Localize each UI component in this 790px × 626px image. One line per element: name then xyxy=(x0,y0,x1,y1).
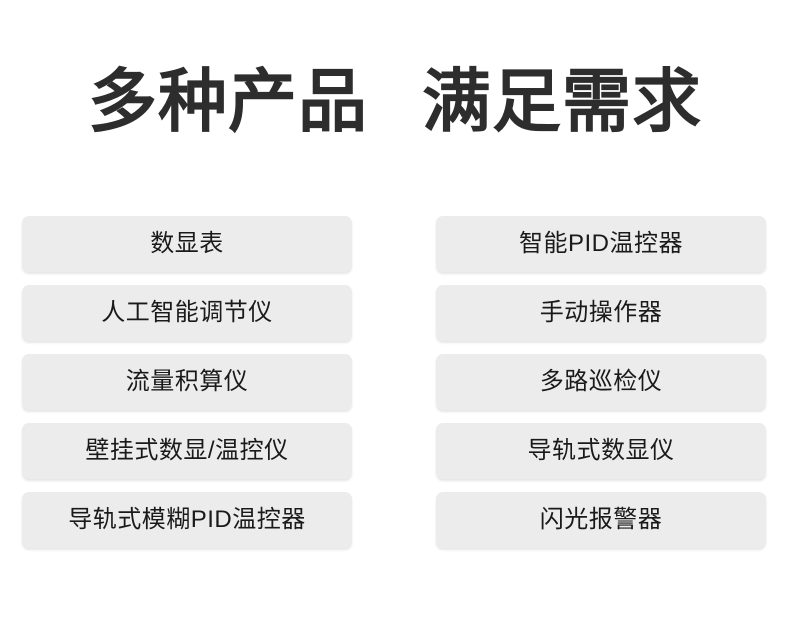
product-item-label: 手动操作器 xyxy=(540,300,663,326)
product-item-label: 壁挂式数显/温控仪 xyxy=(85,438,288,464)
product-item-label: 导轨式数显仪 xyxy=(528,438,675,464)
page-title-part-2: 满足需求 xyxy=(422,56,702,148)
product-item-daoguishi-shuxianyi[interactable]: 导轨式数显仪 xyxy=(436,423,766,479)
product-item-shanguang-baojingqi[interactable]: 闪光报警器 xyxy=(436,492,766,548)
product-item-label: 闪光报警器 xyxy=(540,507,663,533)
product-item-duolu-xunjianyi[interactable]: 多路巡检仪 xyxy=(436,354,766,410)
product-grid: 数显表 人工智能调节仪 流量积算仪 壁挂式数显/温控仪 导轨式模糊PID温控器 … xyxy=(22,216,766,548)
product-catalog-banner: 多种产品满足需求 数显表 人工智能调节仪 流量积算仪 壁挂式数显/温控仪 导轨式… xyxy=(0,0,790,626)
page-title-part-1: 多种产品 xyxy=(88,56,368,148)
product-item-liuliang-jisuanyi[interactable]: 流量积算仪 xyxy=(22,354,352,410)
page-title: 多种产品满足需求 xyxy=(0,56,790,148)
product-item-label: 导轨式模糊PID温控器 xyxy=(68,507,306,533)
product-item-label: 数显表 xyxy=(150,231,224,257)
product-item-shoudong-caozuoqi[interactable]: 手动操作器 xyxy=(436,285,766,341)
product-column-right: 智能PID温控器 手动操作器 多路巡检仪 导轨式数显仪 闪光报警器 xyxy=(436,216,766,548)
product-item-label: 人工智能调节仪 xyxy=(101,300,273,326)
product-item-daoguishi-mohu-pid-wenkongqi[interactable]: 导轨式模糊PID温控器 xyxy=(22,492,352,548)
product-item-shuxianbiao[interactable]: 数显表 xyxy=(22,216,352,272)
product-item-label: 智能PID温控器 xyxy=(519,231,683,257)
product-item-zhineng-pid-wenkongqi[interactable]: 智能PID温控器 xyxy=(436,216,766,272)
product-column-left: 数显表 人工智能调节仪 流量积算仪 壁挂式数显/温控仪 导轨式模糊PID温控器 xyxy=(22,216,352,548)
product-item-label: 多路巡检仪 xyxy=(540,369,663,395)
product-item-biguashi-shuxian-wenkongyi[interactable]: 壁挂式数显/温控仪 xyxy=(22,423,352,479)
product-item-rengong-zhineng-tiaojieyi[interactable]: 人工智能调节仪 xyxy=(22,285,352,341)
product-item-label: 流量积算仪 xyxy=(126,369,249,395)
